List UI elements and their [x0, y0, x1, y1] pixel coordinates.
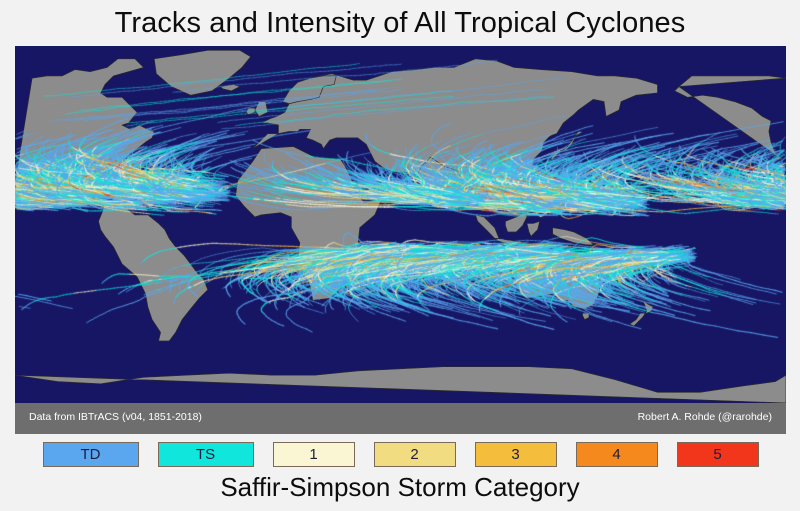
legend-swatch-label: 4 — [612, 447, 620, 462]
credit-band: Data from IBTrACS (v04, 1851-2018) Rober… — [15, 403, 786, 434]
legend-swatch-category-2[interactable]: 2 — [374, 442, 456, 467]
legend-swatch-category-1[interactable]: 1 — [273, 442, 355, 467]
data-source-credit: Data from IBTrACS (v04, 1851-2018) — [29, 411, 202, 423]
legend-swatch-label: 2 — [410, 447, 418, 462]
author-credit: Robert A. Rohde (@rarohde) — [638, 411, 772, 423]
legend-swatch-label: TS — [196, 447, 215, 462]
cyclone-tracks-layer — [15, 46, 786, 403]
legend-swatch-label: 1 — [309, 447, 317, 462]
legend-swatch-label: 5 — [713, 447, 721, 462]
legend-swatch-category-3[interactable]: 3 — [475, 442, 557, 467]
legend-swatch-tropical-storm[interactable]: TS — [158, 442, 254, 467]
legend-swatch-tropical-depression[interactable]: TD — [43, 442, 139, 467]
legend-swatch-category-5[interactable]: 5 — [677, 442, 759, 467]
page-title: Tracks and Intensity of All Tropical Cyc… — [0, 4, 800, 42]
legend: TDTS12345 — [15, 440, 786, 468]
figure-root: Tracks and Intensity of All Tropical Cyc… — [0, 0, 800, 511]
world-map-panel — [15, 46, 786, 403]
legend-swatch-category-4[interactable]: 4 — [576, 442, 658, 467]
legend-swatch-label: 3 — [511, 447, 519, 462]
legend-swatch-label: TD — [81, 447, 101, 462]
legend-caption: Saffir-Simpson Storm Category — [0, 470, 800, 504]
